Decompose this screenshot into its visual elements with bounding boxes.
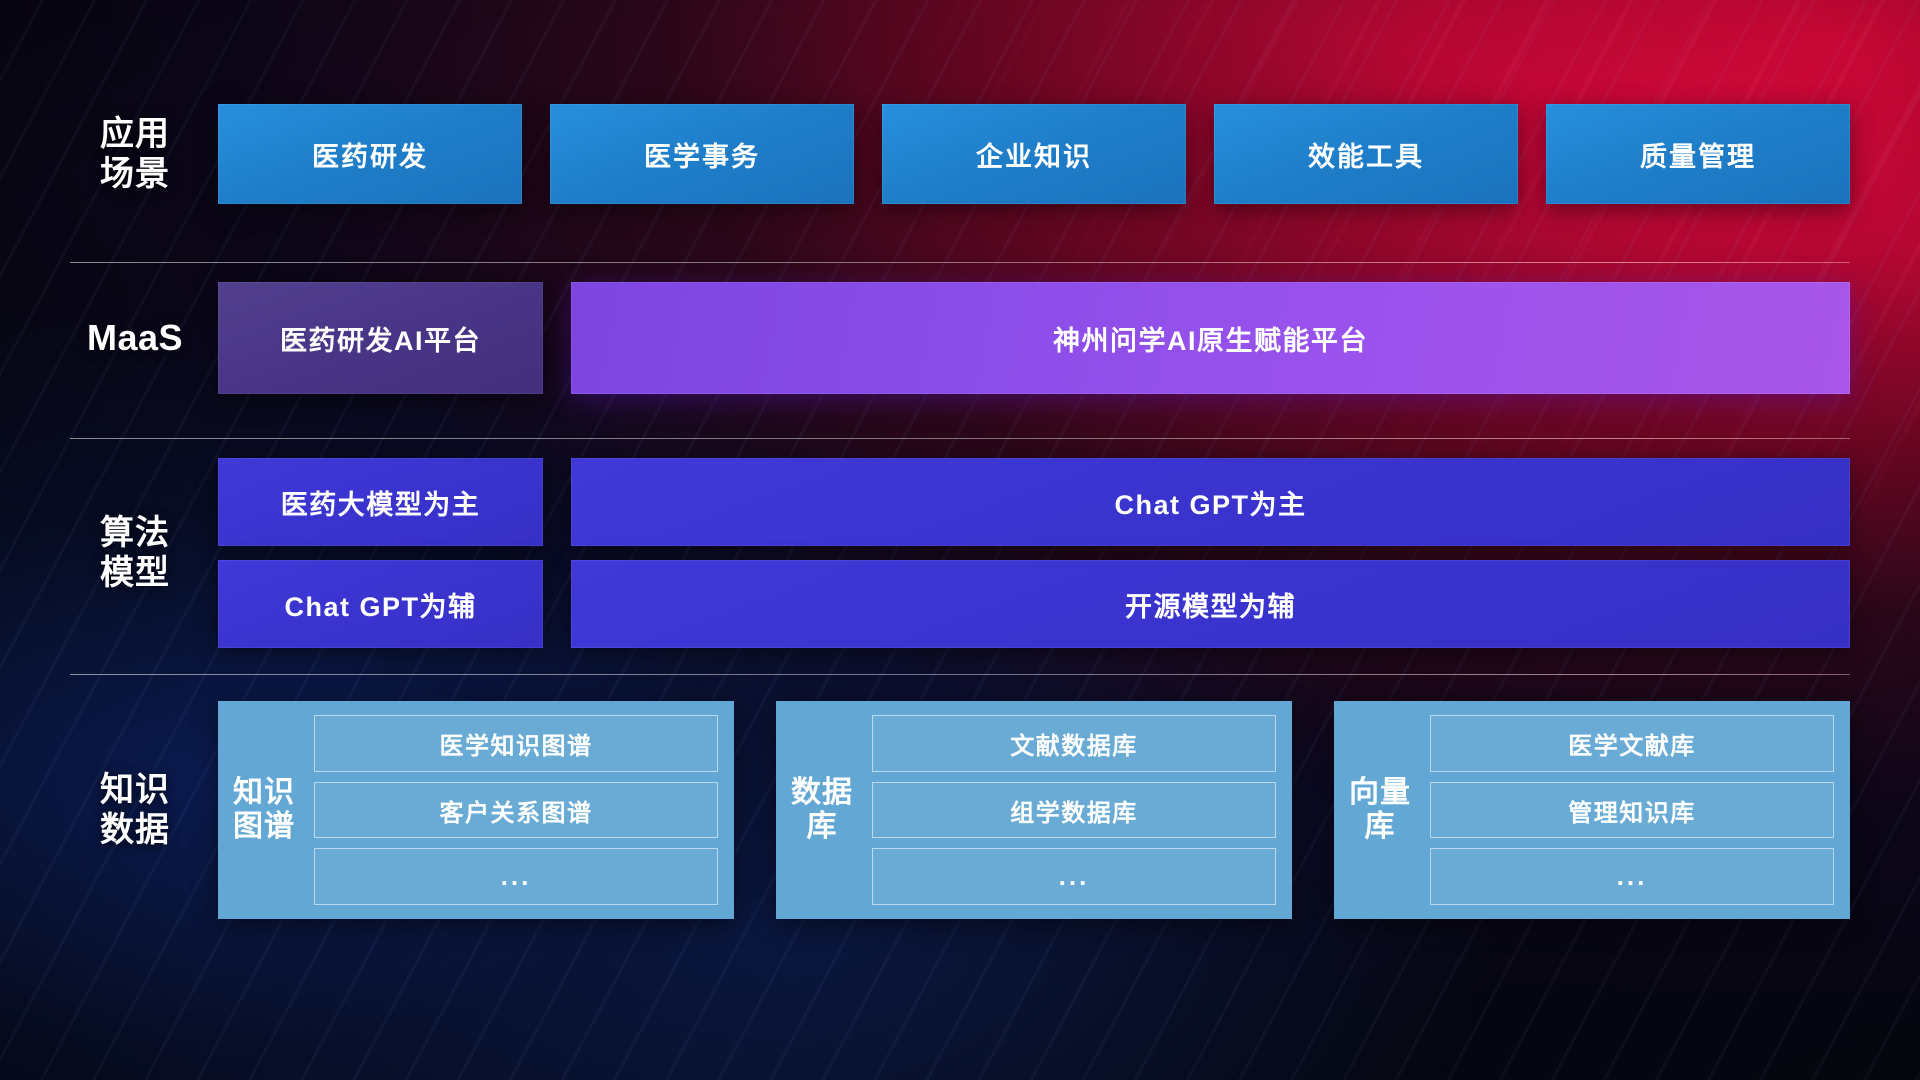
knowledge-items-database: 文献数据库 组学数据库 ...	[872, 715, 1276, 905]
knowledge-item-management-knowledge[interactable]: 管理知识库	[1430, 782, 1834, 839]
maas-grid: 医药研发AI平台 神州问学AI原生赋能平台	[218, 282, 1850, 394]
knowledge-item-more-vector[interactable]: ...	[1430, 848, 1834, 905]
architecture-diagram: 应用 场景 医药研发 医学事务 企业知识 效能工具 质量管理 MaaS 医药研发…	[0, 0, 1920, 1080]
row-body-algorithm-models: 医药大模型为主 Chat GPT为主 Chat GPT为辅 开源模型为辅	[218, 458, 1850, 648]
applications-grid: 医药研发 医学事务 企业知识 效能工具 质量管理	[218, 104, 1850, 204]
knowledge-panel-title-knowledge-graph: 知识图谱	[228, 715, 300, 905]
knowledge-item-medical-kg[interactable]: 医学知识图谱	[314, 715, 718, 772]
app-card-medical-affairs[interactable]: 医学事务	[550, 104, 854, 204]
divider-applications-maas	[70, 262, 1850, 263]
knowledge-item-customer-relation-kg[interactable]: 客户关系图谱	[314, 782, 718, 839]
algorithm-line-secondary: Chat GPT为辅 开源模型为辅	[218, 560, 1850, 648]
algorithm-line-primary: 医药大模型为主 Chat GPT为主	[218, 458, 1850, 546]
row-body-maas: 医药研发AI平台 神州问学AI原生赋能平台	[218, 282, 1850, 394]
algo-card-opensource-secondary[interactable]: 开源模型为辅	[571, 560, 1850, 648]
row-knowledge-data: 知识 数据 知识图谱 医学知识图谱 客户关系图谱 ... 数据库	[70, 700, 1850, 920]
knowledge-panel-title-database: 数据库	[786, 715, 858, 905]
row-label-applications: 应用 场景	[70, 114, 200, 194]
knowledge-item-more-db[interactable]: ...	[872, 848, 1276, 905]
algo-card-chatgpt-primary[interactable]: Chat GPT为主	[571, 458, 1850, 546]
knowledge-panel-vector-store: 向量库 医学文献库 管理知识库 ...	[1334, 701, 1850, 919]
knowledge-grid: 知识图谱 医学知识图谱 客户关系图谱 ... 数据库 文献数据库 组学数据库 .…	[218, 701, 1850, 919]
app-card-quality-management[interactable]: 质量管理	[1546, 104, 1850, 204]
maas-card-shenzhou-wenxue-platform[interactable]: 神州问学AI原生赋能平台	[571, 282, 1850, 394]
row-label-knowledge-data: 知识 数据	[70, 770, 200, 850]
maas-card-drug-ai-platform[interactable]: 医药研发AI平台	[218, 282, 543, 394]
algo-card-pharma-llm-primary[interactable]: 医药大模型为主	[218, 458, 543, 546]
divider-maas-algorithm	[70, 438, 1850, 439]
app-card-efficiency-tools[interactable]: 效能工具	[1214, 104, 1518, 204]
knowledge-item-omics-db[interactable]: 组学数据库	[872, 782, 1276, 839]
row-algorithm-models: 算法 模型 医药大模型为主 Chat GPT为主 Chat GPT为辅 开源模型…	[70, 458, 1850, 648]
knowledge-items-knowledge-graph: 医学知识图谱 客户关系图谱 ...	[314, 715, 718, 905]
row-label-algorithm-models: 算法 模型	[70, 513, 200, 593]
app-card-drug-rd[interactable]: 医药研发	[218, 104, 522, 204]
knowledge-items-vector-store: 医学文献库 管理知识库 ...	[1430, 715, 1834, 905]
row-maas: MaaS 医药研发AI平台 神州问学AI原生赋能平台	[70, 282, 1850, 394]
row-applications: 应用 场景 医药研发 医学事务 企业知识 效能工具 质量管理	[70, 100, 1850, 208]
app-card-enterprise-knowledge[interactable]: 企业知识	[882, 104, 1186, 204]
knowledge-item-medical-literature[interactable]: 医学文献库	[1430, 715, 1834, 772]
algorithm-grid: 医药大模型为主 Chat GPT为主 Chat GPT为辅 开源模型为辅	[218, 458, 1850, 648]
knowledge-panel-title-vector-store: 向量库	[1344, 715, 1416, 905]
row-body-applications: 医药研发 医学事务 企业知识 效能工具 质量管理	[218, 104, 1850, 204]
row-body-knowledge-data: 知识图谱 医学知识图谱 客户关系图谱 ... 数据库 文献数据库 组学数据库 .…	[218, 701, 1850, 919]
knowledge-panel-database: 数据库 文献数据库 组学数据库 ...	[776, 701, 1292, 919]
algo-card-chatgpt-secondary[interactable]: Chat GPT为辅	[218, 560, 543, 648]
knowledge-item-literature-db[interactable]: 文献数据库	[872, 715, 1276, 772]
slide-canvas: 应用 场景 医药研发 医学事务 企业知识 效能工具 质量管理 MaaS 医药研发…	[0, 0, 1920, 1080]
knowledge-panel-knowledge-graph: 知识图谱 医学知识图谱 客户关系图谱 ...	[218, 701, 734, 919]
knowledge-item-more-kg[interactable]: ...	[314, 848, 718, 905]
divider-algorithm-knowledge	[70, 674, 1850, 675]
row-label-maas: MaaS	[70, 317, 200, 359]
